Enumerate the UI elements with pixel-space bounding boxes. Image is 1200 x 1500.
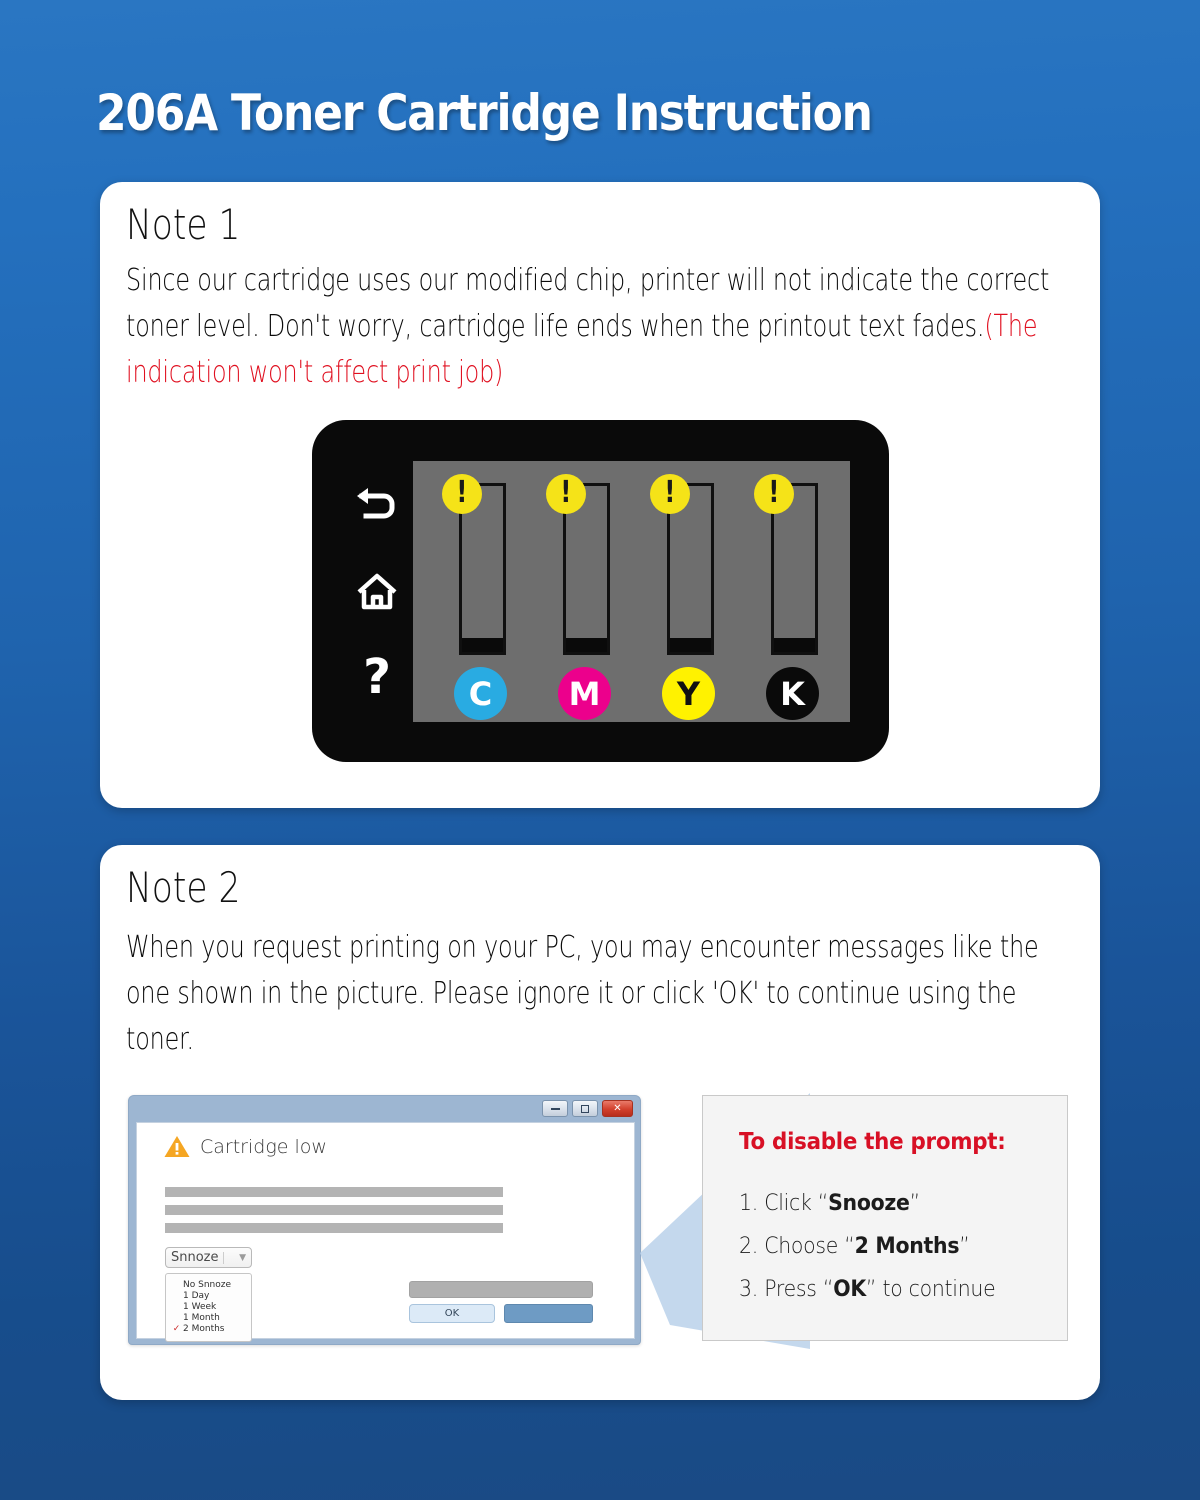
- callout-step: 3. Press “OK” to continue: [739, 1268, 1046, 1311]
- toner-level-fill: [774, 638, 815, 652]
- toner-level-fill: [670, 638, 711, 652]
- toner-warning-icon: !: [546, 474, 586, 514]
- dialog-grey-bar-button[interactable]: [409, 1281, 593, 1298]
- printer-side-buttons: ?: [334, 462, 420, 720]
- warning-triangle-icon: [164, 1135, 190, 1158]
- dialog-body: Cartridge low Snnoze ▼ No Snnoze1 Day1 W…: [136, 1122, 635, 1339]
- callout-step-number: 1.: [739, 1191, 764, 1216]
- callout-step-text: Click “: [764, 1191, 828, 1216]
- chevron-down-icon: ▼: [239, 1253, 246, 1263]
- note-2-heading: Note 2: [126, 863, 240, 912]
- minimize-button[interactable]: [542, 1100, 568, 1117]
- dialog-alert-title: Cartridge low: [200, 1136, 327, 1158]
- callout-step: 2. Choose “2 Months”: [739, 1225, 1046, 1268]
- toner-level-fill: [462, 638, 503, 652]
- dialog-secondary-button[interactable]: [504, 1304, 593, 1323]
- toner-warning-icon: !: [650, 474, 690, 514]
- close-button[interactable]: ✕: [602, 1100, 633, 1117]
- snooze-option-label: 2 Months: [183, 1324, 224, 1335]
- toner-gauge-group: !C!M!Y!K: [459, 479, 819, 714]
- cartridge-low-dialog: ✕ Cartridge low: [128, 1095, 641, 1345]
- toner-color-chip-y: Y: [662, 667, 715, 720]
- toner-color-chip-m: M: [558, 667, 611, 720]
- snooze-option-label: 1 Day: [183, 1291, 209, 1302]
- callout-step-text-tail: ”: [959, 1234, 969, 1259]
- snooze-option[interactable]: 1 Day: [170, 1291, 247, 1302]
- callout-step-text: Choose “: [764, 1234, 854, 1259]
- toner-color-chip-k: K: [766, 667, 819, 720]
- snooze-option[interactable]: 1 Week: [170, 1302, 247, 1313]
- note-2-card: Note 2 When you request printing on your…: [100, 845, 1100, 1400]
- callout-title: To disable the prompt:: [739, 1129, 1006, 1155]
- help-icon[interactable]: ?: [354, 654, 400, 700]
- callout-step-text: Press “: [764, 1277, 833, 1302]
- printer-panel-illustration: ? !C!M!Y!K: [312, 420, 889, 762]
- back-arrow-icon[interactable]: [354, 482, 400, 528]
- dialog-header: Cartridge low: [164, 1135, 327, 1158]
- toner-color-chip-c: C: [454, 667, 507, 720]
- callout-step: 1. Click “Snooze”: [739, 1182, 1046, 1225]
- instruction-page: 206A Toner Cartridge Instruction Note 1 …: [0, 0, 1200, 1500]
- snooze-option[interactable]: ✓2 Months: [170, 1324, 247, 1335]
- note-1-body-text: Since our cartridge uses our modified ch…: [126, 263, 1049, 344]
- callout-step-emphasis: 2 Months: [855, 1234, 960, 1259]
- snooze-option[interactable]: 1 Month: [170, 1313, 247, 1324]
- check-icon: ✓: [170, 1324, 183, 1335]
- window-controls: ✕: [542, 1100, 633, 1117]
- dialog-text-placeholder-3: [165, 1223, 503, 1233]
- callout-steps: 1. Click “Snooze”2. Choose “2 Months”3. …: [739, 1182, 1069, 1311]
- snooze-option-label: 1 Month: [183, 1313, 220, 1324]
- dialog-ok-button[interactable]: OK: [409, 1304, 495, 1323]
- callout-step-text-tail: ” to continue: [866, 1277, 995, 1302]
- disable-prompt-callout: To disable the prompt: 1. Click “Snooze”…: [702, 1095, 1068, 1341]
- maximize-button[interactable]: [572, 1100, 598, 1117]
- snooze-option-label: No Snnoze: [183, 1280, 231, 1291]
- printer-screen: !C!M!Y!K: [410, 458, 853, 725]
- callout-step-emphasis: Snooze: [828, 1191, 910, 1216]
- snooze-select[interactable]: Snnoze ▼: [165, 1247, 252, 1268]
- page-title: 206A Toner Cartridge Instruction: [96, 84, 872, 142]
- dialog-titlebar: ✕: [129, 1096, 640, 1122]
- note-1-card: Note 1 Since our cartridge uses our modi…: [100, 182, 1100, 808]
- toner-warning-icon: !: [442, 474, 482, 514]
- dialog-text-placeholder-2: [165, 1205, 503, 1215]
- snooze-select-value: Snnoze: [171, 1250, 219, 1265]
- callout-step-number: 3.: [739, 1277, 764, 1302]
- snooze-option[interactable]: No Snnoze: [170, 1280, 247, 1291]
- select-divider: [223, 1252, 224, 1264]
- callout-step-text-tail: ”: [910, 1191, 920, 1216]
- note-2-body: When you request printing on your PC, yo…: [126, 925, 1064, 1063]
- snooze-option-list[interactable]: No Snnoze1 Day1 Week1 Month✓2 Months: [165, 1273, 252, 1342]
- dialog-text-placeholder-1: [165, 1187, 503, 1197]
- toner-warning-icon: !: [754, 474, 794, 514]
- note-1-heading: Note 1: [126, 200, 240, 249]
- snooze-option-label: 1 Week: [183, 1302, 216, 1313]
- callout-step-emphasis: OK: [833, 1277, 866, 1302]
- note-1-body: Since our cartridge uses our modified ch…: [126, 258, 1064, 396]
- toner-level-fill: [566, 638, 607, 652]
- callout-step-number: 2.: [739, 1234, 764, 1259]
- home-icon[interactable]: [354, 568, 400, 614]
